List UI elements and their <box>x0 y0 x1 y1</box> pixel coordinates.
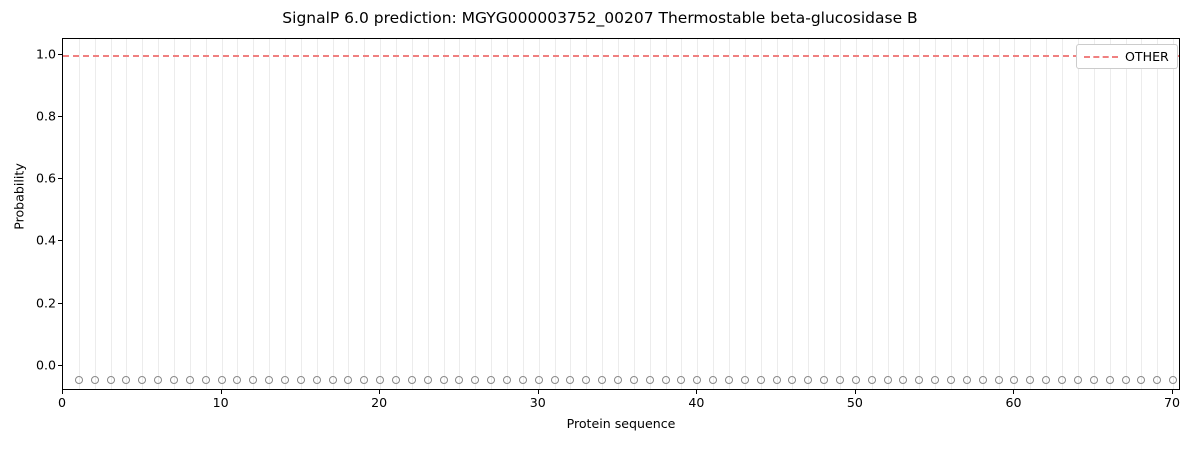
gridline <box>174 39 175 389</box>
residue-label: G <box>598 389 607 390</box>
gridline <box>555 39 556 389</box>
residue-label: S <box>1027 389 1034 390</box>
sequence-marker <box>265 376 273 384</box>
sequence-marker <box>947 376 955 384</box>
sequence-marker <box>535 376 543 384</box>
x-tick-label: 50 <box>847 395 863 410</box>
sequence-marker <box>408 376 416 384</box>
sequence-marker <box>1058 376 1066 384</box>
y-tick <box>58 303 62 304</box>
other-probability-line <box>63 55 1179 57</box>
sequence-marker <box>297 376 305 384</box>
sequence-marker <box>1169 376 1177 384</box>
x-tick-label: 30 <box>530 395 546 410</box>
sequence-marker <box>218 376 226 384</box>
legend[interactable]: OTHER <box>1076 44 1178 69</box>
residue-label: G <box>392 389 401 390</box>
x-tick <box>1172 390 1173 394</box>
residue-label: W <box>454 389 465 390</box>
residue-label: K <box>916 389 924 390</box>
sequence-marker <box>170 376 178 384</box>
gridline <box>919 39 920 389</box>
gridline <box>570 39 571 389</box>
y-tick-label: 0.2 <box>36 295 56 310</box>
residue-label: P <box>1106 389 1113 390</box>
residue-label: P <box>757 389 764 390</box>
residue-label: E <box>567 389 574 390</box>
sequence-marker <box>1042 376 1050 384</box>
y-tick-label: 0.6 <box>36 171 56 186</box>
gridline <box>824 39 825 389</box>
gridline <box>412 39 413 389</box>
gridline <box>872 39 873 389</box>
sequence-marker <box>424 376 432 384</box>
residue-label: Q <box>280 389 289 390</box>
gridline <box>475 39 476 389</box>
sequence-marker <box>487 376 495 384</box>
sequence-marker <box>646 376 654 384</box>
x-tick <box>379 390 380 394</box>
gridline <box>1157 39 1158 389</box>
gridline <box>253 39 254 389</box>
x-tick-label: 60 <box>1005 395 1021 410</box>
residue-label: D <box>725 389 734 390</box>
residue-label: I <box>616 389 619 390</box>
residue-label: P <box>123 389 130 390</box>
gridline <box>364 39 365 389</box>
sequence-marker <box>455 376 463 384</box>
sequence-marker <box>107 376 115 384</box>
residue-label: E <box>551 389 558 390</box>
residue-label: K <box>202 389 210 390</box>
gridline <box>1062 39 1063 389</box>
gridline <box>79 39 80 389</box>
gridline <box>396 39 397 389</box>
sequence-marker <box>662 376 670 384</box>
gridline <box>840 39 841 389</box>
gridline <box>681 39 682 389</box>
residue-label: C <box>1153 389 1161 390</box>
sequence-marker <box>154 376 162 384</box>
residue-label: M <box>74 389 84 390</box>
residue-label: R <box>820 389 828 390</box>
sequence-marker <box>281 376 289 384</box>
residue-label: K <box>297 389 305 390</box>
gridline <box>697 39 698 389</box>
residue-label: M <box>1010 389 1020 390</box>
gridline <box>634 39 635 389</box>
gridline <box>1110 39 1111 389</box>
residue-label: H <box>471 389 480 390</box>
gridline <box>111 39 112 389</box>
gridline <box>792 39 793 389</box>
sequence-marker <box>186 376 194 384</box>
sequence-marker <box>868 376 876 384</box>
sequence-marker <box>566 376 574 384</box>
sequence-marker <box>91 376 99 384</box>
residue-label: H <box>772 389 781 390</box>
sequence-marker <box>1137 376 1145 384</box>
gridline <box>650 39 651 389</box>
residue-label: T <box>488 389 495 390</box>
gridline <box>428 39 429 389</box>
gridline <box>1046 39 1047 389</box>
sequence-marker <box>677 376 685 384</box>
residue-label: E <box>979 389 986 390</box>
sequence-marker <box>804 376 812 384</box>
residue-label: Y <box>1170 389 1177 390</box>
gridline <box>951 39 952 389</box>
residue-label: V <box>868 389 876 390</box>
residue-label: E <box>884 389 891 390</box>
sequence-marker <box>1122 376 1130 384</box>
residue-label: L <box>250 389 256 390</box>
gridline <box>586 39 587 389</box>
sequence-marker <box>1090 376 1098 384</box>
gridline <box>95 39 96 389</box>
residue-label: T <box>234 389 241 390</box>
gridline <box>380 39 381 389</box>
signalp-prediction-figure: SignalP 6.0 prediction: MGYG000003752_00… <box>0 0 1200 450</box>
residue-label: S <box>186 389 193 390</box>
gridline <box>856 39 857 389</box>
gridline <box>158 39 159 389</box>
sequence-marker <box>598 376 606 384</box>
gridline <box>1030 39 1031 389</box>
x-tick <box>221 390 222 394</box>
sequence-marker <box>741 376 749 384</box>
sequence-marker <box>963 376 971 384</box>
residue-label: T <box>710 389 717 390</box>
residue-label: K <box>995 389 1003 390</box>
y-tick <box>58 116 62 117</box>
gridline <box>1078 39 1079 389</box>
residue-label: S <box>329 389 336 390</box>
sequence-marker <box>329 376 337 384</box>
residue-label: E <box>139 389 146 390</box>
sequence-marker <box>582 376 590 384</box>
y-tick <box>58 178 62 179</box>
residue-label: C <box>360 389 368 390</box>
sequence-marker <box>471 376 479 384</box>
sequence-marker <box>1074 376 1082 384</box>
sequence-marker <box>725 376 733 384</box>
residue-label: D <box>423 389 432 390</box>
residue-label: G <box>740 389 749 390</box>
sequence-marker <box>503 376 511 384</box>
sequence-marker <box>313 376 321 384</box>
chart-title: SignalP 6.0 prediction: MGYG000003752_00… <box>0 9 1200 27</box>
sequence-marker <box>820 376 828 384</box>
gridline <box>507 39 508 389</box>
residue-label: I <box>807 389 810 390</box>
sequence-marker <box>1153 376 1161 384</box>
gridline <box>317 39 318 389</box>
x-tick-label: 10 <box>213 395 229 410</box>
sequence-marker <box>614 376 622 384</box>
gridline <box>602 39 603 389</box>
sequence-marker <box>915 376 923 384</box>
gridline <box>729 39 730 389</box>
residue-label: V <box>170 389 178 390</box>
residue-label: L <box>694 389 700 390</box>
residue-label: L <box>345 389 351 390</box>
sequence-marker <box>1010 376 1018 384</box>
x-tick <box>696 390 697 394</box>
residue-label: E <box>963 389 970 390</box>
sequence-marker <box>757 376 765 384</box>
residue-label: M <box>677 389 687 390</box>
residue-label: S <box>932 389 939 390</box>
residue-label: L <box>218 389 224 390</box>
sequence-marker <box>899 376 907 384</box>
gridline <box>999 39 1000 389</box>
sequence-marker <box>360 376 368 384</box>
sequence-marker <box>1026 376 1034 384</box>
gridline <box>777 39 778 389</box>
x-axis-label: Protein sequence <box>62 416 1180 431</box>
residue-label: K <box>408 389 416 390</box>
y-tick-label: 0.4 <box>36 233 56 248</box>
sequence-marker <box>995 376 1003 384</box>
gridline <box>903 39 904 389</box>
gridline <box>539 39 540 389</box>
residue-label: H <box>106 389 115 390</box>
gridline <box>808 39 809 389</box>
gridline <box>618 39 619 389</box>
sequence-marker <box>138 376 146 384</box>
y-tick-label: 1.0 <box>36 46 56 61</box>
legend-label-other: OTHER <box>1125 49 1169 64</box>
residue-label: G <box>788 389 797 390</box>
y-tick-label: 0.0 <box>36 358 56 373</box>
gridline <box>190 39 191 389</box>
gridline <box>1094 39 1095 389</box>
residue-label: S <box>646 389 653 390</box>
residue-label: D <box>518 389 527 390</box>
y-tick-label: 0.8 <box>36 108 56 123</box>
x-tick <box>538 390 539 394</box>
sequence-marker <box>836 376 844 384</box>
gridline <box>348 39 349 389</box>
residue-label: A <box>582 389 590 390</box>
residue-label: G <box>1073 389 1082 390</box>
sequence-marker <box>693 376 701 384</box>
residue-label: A <box>1122 389 1130 390</box>
residue-label: A <box>313 389 321 390</box>
sequence-marker <box>773 376 781 384</box>
residue-label: E <box>900 389 907 390</box>
sequence-marker <box>519 376 527 384</box>
gridline <box>1173 39 1174 389</box>
sequence-marker <box>249 376 257 384</box>
sequence-marker <box>1106 376 1114 384</box>
x-tick-label: 20 <box>371 395 387 410</box>
sequence-marker <box>344 376 352 384</box>
residue-label: K <box>836 389 844 390</box>
x-tick-label: 0 <box>58 395 66 410</box>
gridline <box>459 39 460 389</box>
y-tick <box>58 54 62 55</box>
sequence-marker <box>551 376 559 384</box>
gridline <box>142 39 143 389</box>
gridline <box>237 39 238 389</box>
residue-label: K <box>947 389 955 390</box>
residue-label: V <box>1090 389 1098 390</box>
residue-label: I <box>664 389 667 390</box>
sequence-marker <box>788 376 796 384</box>
gridline <box>983 39 984 389</box>
gridline <box>1141 39 1142 389</box>
gridline <box>206 39 207 389</box>
gridline <box>523 39 524 389</box>
sequence-marker <box>709 376 717 384</box>
sequence-marker <box>979 376 987 384</box>
sequence-marker <box>376 376 384 384</box>
y-tick <box>58 240 62 241</box>
sequence-marker <box>884 376 892 384</box>
gridline <box>1014 39 1015 389</box>
y-axis-label: Probability <box>12 97 27 297</box>
residue-label: E <box>266 389 273 390</box>
residue-label: K <box>91 389 99 390</box>
gridline <box>745 39 746 389</box>
gridline <box>1126 39 1127 389</box>
sequence-marker <box>931 376 939 384</box>
x-tick <box>855 390 856 394</box>
gridline <box>666 39 667 389</box>
gridline <box>888 39 889 389</box>
x-tick <box>62 390 63 394</box>
residue-label: R <box>852 389 860 390</box>
gridline <box>444 39 445 389</box>
sequence-marker <box>392 376 400 384</box>
residue-label: V <box>503 389 511 390</box>
sequence-marker <box>75 376 83 384</box>
legend-swatch-other <box>1084 56 1118 58</box>
residue-label: Y <box>440 389 447 390</box>
residue-label: K <box>1058 389 1066 390</box>
gridline <box>126 39 127 389</box>
residue-label: I <box>1140 389 1143 390</box>
y-tick <box>58 365 62 366</box>
residue-label: P <box>630 389 637 390</box>
gridline <box>285 39 286 389</box>
residue-label: I <box>156 389 159 390</box>
residue-label: L <box>1043 389 1049 390</box>
gridline <box>491 39 492 389</box>
x-tick-label: 70 <box>1164 395 1180 410</box>
plot-area: MKHPEIVSKLTLEQKASLCSGKDYWHTVDIEEAGIPSIML… <box>62 38 1180 390</box>
sequence-marker <box>440 376 448 384</box>
sequence-marker <box>202 376 210 384</box>
sequence-marker <box>852 376 860 384</box>
gridline <box>222 39 223 389</box>
gridline <box>967 39 968 389</box>
sequence-marker <box>233 376 241 384</box>
x-tick <box>1013 390 1014 394</box>
gridline <box>333 39 334 389</box>
sequence-marker <box>630 376 638 384</box>
sequence-marker <box>122 376 130 384</box>
gridline <box>269 39 270 389</box>
gridline <box>713 39 714 389</box>
x-tick-label: 40 <box>688 395 704 410</box>
residue-label: S <box>377 389 384 390</box>
gridline <box>761 39 762 389</box>
gridline <box>301 39 302 389</box>
gridline <box>935 39 936 389</box>
